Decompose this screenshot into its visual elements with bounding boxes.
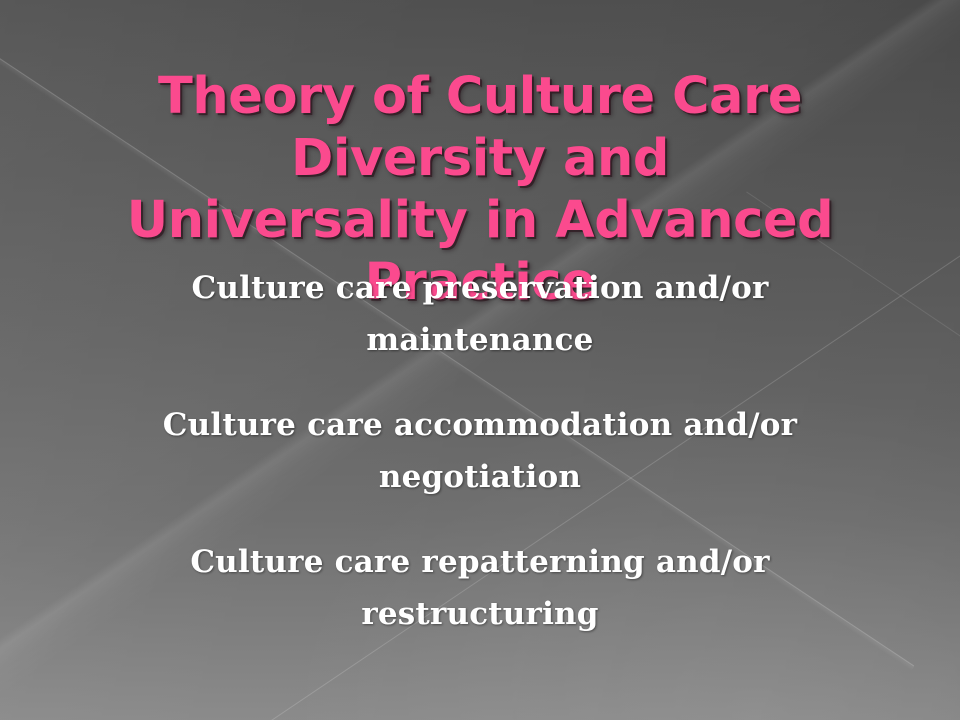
body-line-3: Culture care repatterning and/or restruc…	[128, 536, 832, 640]
slide-content: Theory of Culture Care Diversity and Uni…	[0, 0, 960, 720]
slide-body: Culture care preservation and/or mainten…	[128, 262, 832, 640]
body-line-1: Culture care preservation and/or mainten…	[128, 262, 832, 366]
presentation-slide: Theory of Culture Care Diversity and Uni…	[0, 0, 960, 720]
body-line-2: Culture care accommodation and/or negoti…	[128, 399, 832, 503]
